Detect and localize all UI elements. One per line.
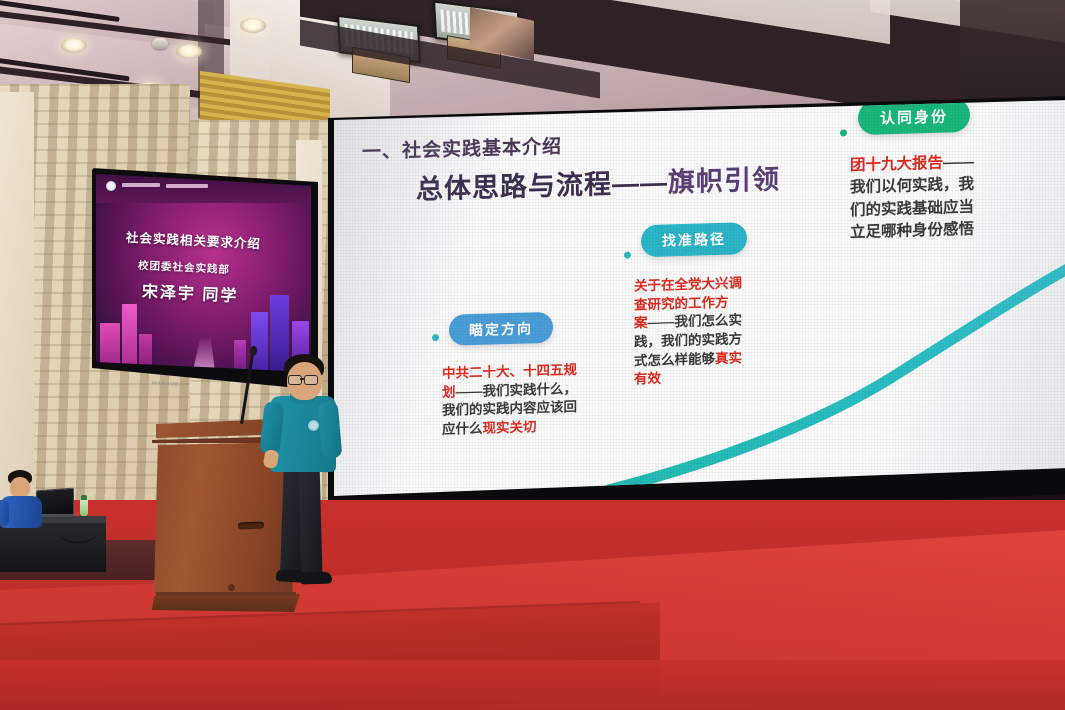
side-display-subtitle: 校团委社会实践部 — [138, 258, 231, 277]
shoe — [300, 571, 332, 584]
glasses-bridge — [300, 378, 304, 380]
body-line: 式怎么样能够 — [634, 351, 715, 368]
body-line: 划 — [442, 384, 456, 399]
lectern-base-trim — [156, 592, 296, 596]
floor-lower — [0, 660, 1065, 710]
body-line: 们的实践基础应当 — [850, 199, 974, 220]
smoke-detector-icon — [152, 38, 168, 49]
slide-title-main: 总体思路与流程—— — [416, 167, 668, 204]
node-body-path: 关于在全党大兴调 查研究的工作方 案——我们怎么实 践，我们的实践方 式怎么样能… — [634, 273, 784, 389]
screenshot-root: 一、社会实践基本介绍 总体思路与流程——旗帜引领 瞄定方向 — [0, 0, 1065, 710]
slide-title-accent: 旗帜引领 — [668, 164, 780, 197]
banner-text-glyphs — [122, 183, 160, 187]
water-bottle — [80, 499, 88, 516]
wall-column — [0, 92, 34, 512]
node-pill-label: 瞄定方向 — [469, 318, 533, 340]
arm — [0, 500, 9, 526]
shirt-logo-icon — [308, 420, 319, 431]
side-display-speaker: 宋泽宇 同学 — [141, 278, 239, 307]
body-line-tail-hi: 真实 — [715, 350, 742, 366]
body-line: 践，我们的实践方 — [634, 331, 742, 349]
leg — [299, 462, 323, 577]
node-body-identity: 团十九大报告—— 我们以何实践，我 们的实践基础应当 立足哪种身份感悟 — [850, 150, 1036, 245]
downlight-icon — [240, 18, 266, 33]
body-line-tail: —— — [943, 154, 974, 172]
presentation-slide: 一、社会实践基本介绍 总体思路与流程——旗帜引领 瞄定方向 — [334, 101, 1065, 500]
lectern-base — [152, 594, 300, 612]
glasses-icon — [288, 375, 302, 385]
led-wall-screen: 一、社会实践基本介绍 总体思路与流程——旗帜引领 瞄定方向 — [334, 100, 1065, 500]
node-pill-label: 找准路径 — [662, 229, 726, 251]
node-marker-dot — [624, 252, 631, 259]
lectern-keyhole — [228, 584, 235, 591]
body-line-tail: ——我们实践什么， — [456, 381, 578, 399]
lectern-handle-slot — [238, 522, 264, 530]
body-line: 查研究的工作方 — [634, 294, 729, 312]
body-line: 关于在全党大兴调 — [634, 275, 742, 293]
bottle-cap — [81, 495, 87, 500]
body-line: 我们的实践内容应该回 — [442, 399, 577, 418]
body-line: 中共二十大、十四五规 — [442, 362, 577, 381]
side-display-title: 社会实践相关要求介绍 — [126, 227, 262, 253]
body-line: 案 — [634, 315, 648, 330]
side-display-screen: 社会实践相关要求介绍 校团委社会实践部 宋泽宇 同学 — [96, 172, 311, 378]
node-pill-direction: 瞄定方向 — [449, 312, 553, 346]
node-marker-dot — [840, 129, 847, 136]
slide-kicker: 一、社会实践基本介绍 — [362, 132, 562, 165]
node-body-direction: 中共二十大、十四五规 划——我们实践什么， 我们的实践内容应该回 应什么现实关切 — [442, 361, 594, 440]
head — [10, 477, 30, 498]
cable — [58, 520, 98, 543]
body-line-tail-hi: 现实关切 — [483, 419, 537, 436]
body-line-tail: ——我们怎么实 — [648, 313, 743, 331]
university-logo-icon — [106, 181, 116, 191]
slide-title: 总体思路与流程——旗帜引领 — [416, 157, 780, 206]
body-line: 我们以何实践，我 — [850, 176, 974, 197]
body-line: 有效 — [634, 371, 661, 387]
downlight-icon — [176, 44, 202, 59]
body-line: 应什么 — [442, 421, 483, 437]
body-line: 团十九大报告 — [850, 155, 943, 175]
node-pill-path: 找准路径 — [641, 222, 747, 257]
downlight-icon — [61, 38, 87, 53]
banner-text-glyphs — [166, 184, 208, 188]
body-line: 立足哪种身份感悟 — [850, 221, 974, 242]
glasses-icon — [304, 375, 318, 385]
node-pill-label: 认同身份 — [880, 105, 948, 128]
